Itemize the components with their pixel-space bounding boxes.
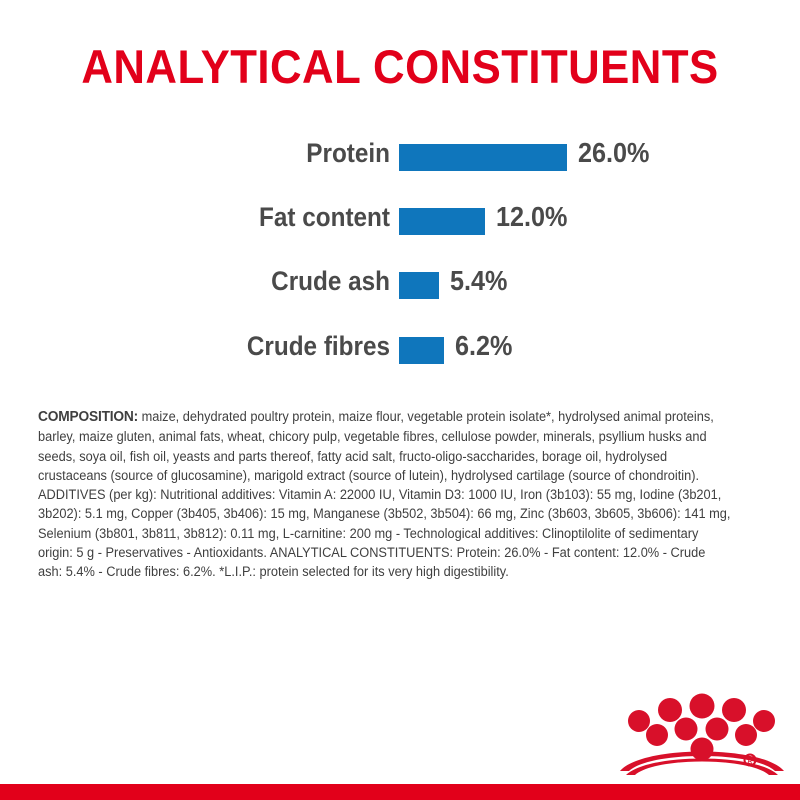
bar-label-protein: Protein: [84, 138, 390, 168]
bar-value-protein: 26.0%: [578, 138, 649, 168]
bar-value-fat-content: 12.0%: [496, 202, 567, 232]
bar-track-crude-ash: [399, 272, 439, 299]
royal-canin-crown-icon: R: [612, 693, 788, 775]
composition-body-text: maize, dehydrated poultry protein, maize…: [38, 409, 730, 579]
bar-fill-crude-fibres: [399, 337, 444, 364]
bar-row-crude-fibres: Crude fibres 6.2%: [0, 331, 800, 365]
composition-paragraph: COMPOSITION: maize, dehydrated poultry p…: [38, 407, 731, 582]
bar-track-crude-fibres: [399, 337, 444, 364]
bar-value-crude-ash: 5.4%: [450, 266, 507, 296]
bar-label-crude-fibres: Crude fibres: [84, 331, 390, 361]
bar-label-crude-ash: Crude ash: [84, 266, 390, 296]
svg-text:R: R: [747, 759, 752, 766]
bar-fill-fat-content: [399, 208, 485, 235]
bar-row-crude-ash: Crude ash 5.4%: [0, 266, 800, 300]
bar-track-protein: [399, 144, 567, 171]
composition-lead-label: COMPOSITION:: [38, 409, 138, 425]
bar-track-fat-content: [399, 208, 485, 235]
bottom-accent-bar: [0, 784, 800, 800]
bar-value-crude-fibres: 6.2%: [455, 331, 512, 361]
page-title: ANALYTICAL CONSTITUENTS: [28, 42, 772, 91]
bar-row-protein: Protein 26.0%: [0, 138, 800, 172]
bar-label-fat-content: Fat content: [84, 202, 390, 232]
analytical-constituents-chart: Protein 26.0% Fat content 12.0% Crude as…: [0, 138, 800, 378]
bar-row-fat-content: Fat content 12.0%: [0, 202, 800, 236]
bar-fill-protein: [399, 144, 567, 171]
bar-fill-crude-ash: [399, 272, 439, 299]
